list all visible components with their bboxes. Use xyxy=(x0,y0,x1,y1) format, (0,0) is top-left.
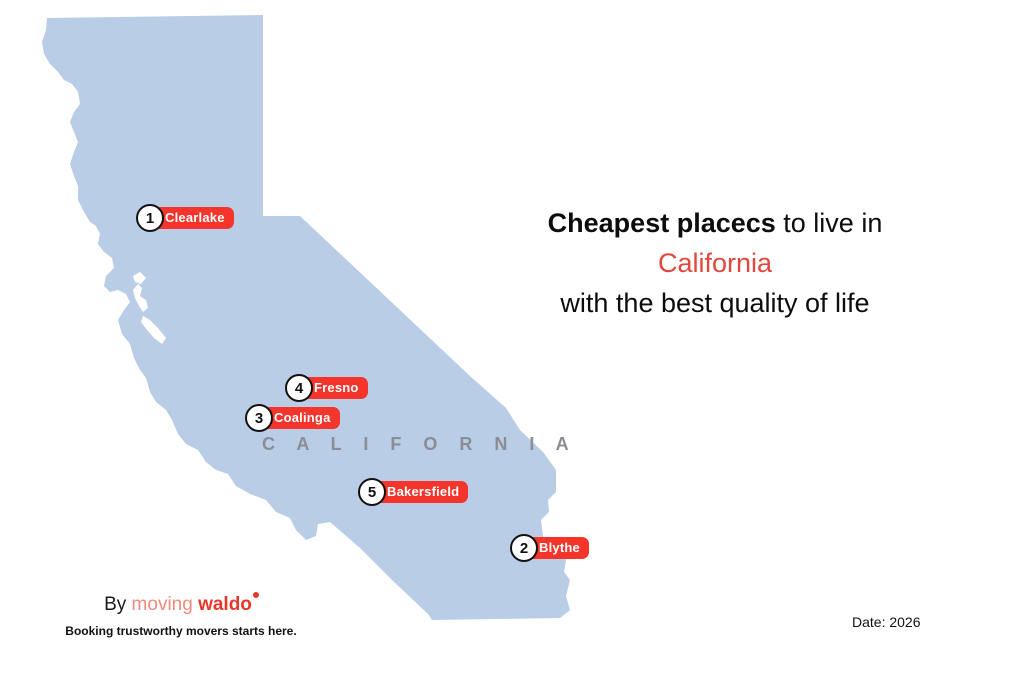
california-map-svg xyxy=(0,0,1024,683)
marker-city-label: Bakersfield xyxy=(387,485,459,498)
brand-tagline: Booking trustworthy movers starts here. xyxy=(56,624,306,638)
title-line-3: with the best quality of life xyxy=(470,283,960,323)
title-line-1: Cheapest placecs to live in xyxy=(470,203,960,243)
map-marker-clearlake[interactable]: Clearlake 1 xyxy=(136,204,164,232)
brand-dot-icon xyxy=(253,592,259,598)
title-line-2: California xyxy=(470,243,960,283)
map-marker-coalinga[interactable]: Coalinga 3 xyxy=(245,404,273,432)
marker-city-label: Coalinga xyxy=(274,411,331,424)
map-marker-bakersfield[interactable]: Bakersfield 5 xyxy=(358,478,386,506)
marker-city-label: Fresno xyxy=(314,381,359,394)
brand-prefix: By xyxy=(104,594,126,615)
infographic-canvas: C A L I F O R N I A Clearlake 1 Fresno 4… xyxy=(0,0,1024,683)
brand-logo[interactable]: By moving waldo xyxy=(56,594,306,616)
marker-rank-badge: 2 xyxy=(510,534,538,562)
map-marker-fresno[interactable]: Fresno 4 xyxy=(285,374,313,402)
brand-block: By moving waldo Booking trustworthy move… xyxy=(56,594,306,638)
marker-rank-badge: 5 xyxy=(358,478,386,506)
marker-rank-badge: 1 xyxy=(136,204,164,232)
marker-city-label: Clearlake xyxy=(165,211,225,224)
state-name-label: C A L I F O R N I A xyxy=(262,434,577,455)
brand-name-light: moving xyxy=(132,594,193,615)
brand-name-bold: waldo xyxy=(198,594,252,615)
marker-rank-badge: 3 xyxy=(245,404,273,432)
california-map: C A L I F O R N I A xyxy=(0,0,1024,683)
map-marker-blythe[interactable]: Blythe 2 xyxy=(510,534,538,562)
title-rest-text: to live in xyxy=(776,208,883,238)
title-block: Cheapest placecs to live in California w… xyxy=(470,203,960,323)
date-label: Date: 2026 xyxy=(852,614,921,630)
title-strong-text: Cheapest placecs xyxy=(548,208,776,238)
marker-rank-badge: 4 xyxy=(285,374,313,402)
marker-city-label: Blythe xyxy=(539,541,580,554)
